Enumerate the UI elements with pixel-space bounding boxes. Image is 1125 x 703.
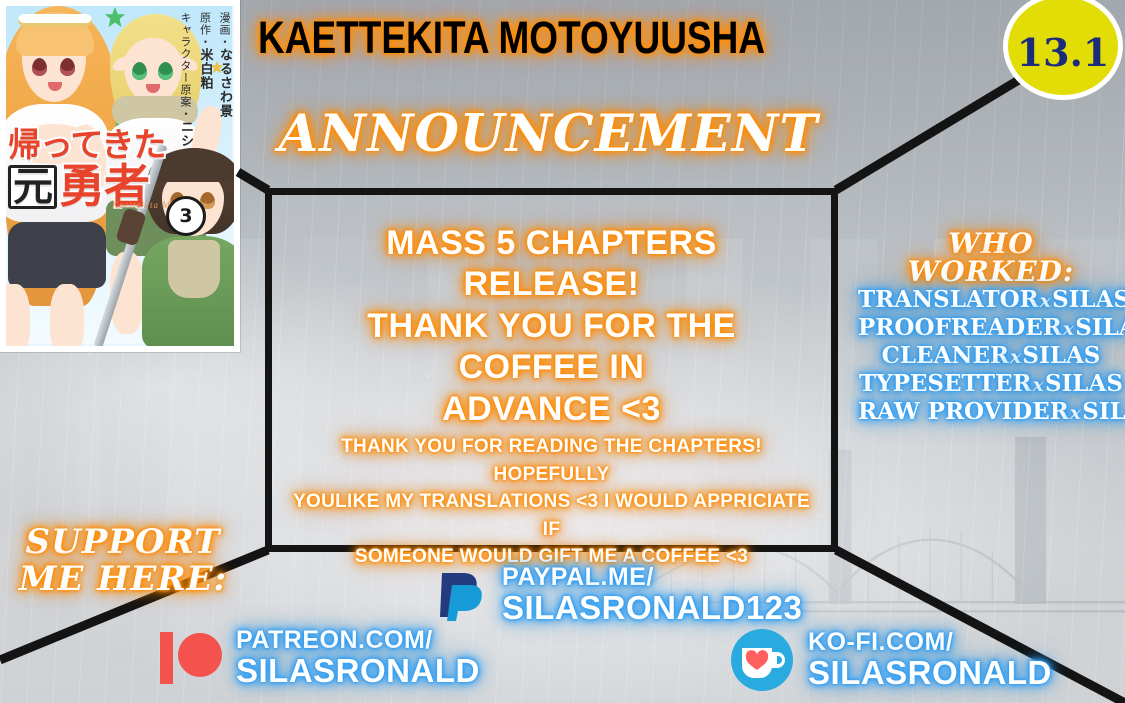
kofi-icon [730,628,794,692]
credit-person: SILAS [1082,398,1125,425]
credit-person: SILAS [1022,342,1100,369]
credit-row: TYPESETTERxSILAS [858,370,1124,398]
support-heading-line2: ME HERE: [18,561,228,598]
support-heading-line1: SUPPORT [18,524,228,561]
cover-frame [0,0,240,352]
paypal-url-line1: PAYPAL.ME/ [502,565,802,591]
credits-list: TRANSLATORxSILAS PROOFREADERxSILAS CLEAN… [858,286,1124,426]
announcement-heading: ANNOUNCEMENT [0,109,1111,160]
credit-role: PROOFREADER [858,314,1062,341]
announcement-main-line: THANK YOU FOR THE COFFEE IN [296,306,807,389]
credit-row: RAW PROVIDERxSILAS [858,398,1124,426]
announcement-page: 帰ってきた 元 勇者 Kaettekita Moto Yusha 3 漫画・なる… [0,0,1125,703]
patreon-url-line2: SILASRONALD [236,654,480,688]
patreon-url-line1: PATREON.COM/ [236,628,480,654]
kofi-url-line1: KO-FI.COM/ [808,630,1052,656]
credit-person: SILAS [1045,370,1123,397]
manga-cover-image: 帰ってきた 元 勇者 Kaettekita Moto Yusha 3 漫画・なる… [0,0,240,352]
support-heading: SUPPORT ME HERE: [18,524,228,597]
credit-separator: x [1009,346,1022,368]
credit-separator: x [1062,318,1075,340]
credit-separator: x [1039,290,1052,312]
announcement-sub-text: THANK YOU FOR READING THE CHAPTERS! HOPE… [290,433,813,571]
chapter-number: 13.1 [1017,30,1110,75]
credit-person: SILAS [1052,286,1125,313]
patreon-icon [160,630,222,686]
announcement-sub-line: YOULIKE MY TRANSLATIONS <3 I WOULD APPRI… [290,488,813,543]
credit-separator: x [1032,374,1045,396]
credit-separator: x [1069,402,1082,424]
kofi-url-line2: SILASRONALD [808,656,1052,690]
paypal-icon [432,567,488,623]
paypal-link[interactable]: PAYPAL.ME/ SILASRONALD123 [432,565,802,624]
paypal-link-text: PAYPAL.ME/ SILASRONALD123 [502,565,802,624]
patreon-link-text: PATREON.COM/ SILASRONALD [236,628,480,687]
credit-role: TRANSLATOR [858,286,1039,313]
credit-row: TRANSLATORxSILAS [858,286,1124,314]
patreon-link[interactable]: PATREON.COM/ SILASRONALD [160,628,480,687]
credit-role: TYPESETTER [859,370,1032,397]
paypal-url-line2: SILASRONALD123 [502,591,802,625]
announcement-main-text: MASS 5 CHAPTERS RELEASE! THANK YOU FOR T… [296,223,807,430]
credit-row: PROOFREADERxSILAS [858,314,1124,342]
announcement-sub-line: THANK YOU FOR READING THE CHAPTERS! HOPE… [290,433,813,488]
credit-person: SILAS [1075,314,1125,341]
announcement-main-line: ADVANCE <3 [296,389,807,430]
credits-heading: WHO WORKED: [862,230,1120,286]
series-title: KAETTEKITA MOTOYUUSHA [258,15,765,60]
credit-row: CLEANERxSILAS [858,342,1124,370]
kofi-link[interactable]: KO-FI.COM/ SILASRONALD [730,628,1052,692]
kofi-link-text: KO-FI.COM/ SILASRONALD [808,630,1052,689]
announcement-main-line: MASS 5 CHAPTERS RELEASE! [296,223,807,306]
credit-role: RAW PROVIDER [858,398,1069,425]
credit-role: CLEANER [882,342,1010,369]
announcement-panel: MASS 5 CHAPTERS RELEASE! THANK YOU FOR T… [265,188,838,552]
